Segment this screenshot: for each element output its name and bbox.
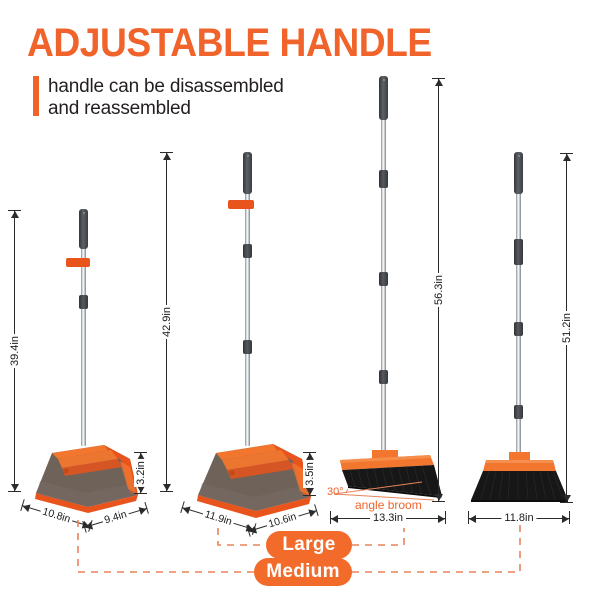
handle-joint	[514, 322, 523, 336]
handle-joint	[514, 239, 523, 265]
badge-medium-label: Medium	[266, 561, 340, 583]
infographic-canvas: ADJUSTABLE HANDLE handle can be disassem…	[0, 0, 600, 600]
subtitle-text: handle can be disassembled and reassembl…	[48, 76, 284, 120]
handle-joint	[243, 244, 252, 258]
handle-grip	[379, 76, 388, 120]
handle-grip	[514, 152, 523, 194]
handle-pole	[245, 176, 250, 446]
subtitle-block: handle can be disassembled and reassembl…	[33, 76, 284, 120]
handle-joint	[79, 295, 88, 309]
dimension-height-1: 39.4in	[8, 210, 22, 492]
accent-bar-icon	[33, 76, 39, 116]
dimension-height-2: 42.9in	[160, 152, 174, 492]
angle-value-label: 30°	[327, 486, 344, 498]
dimension-height-4: 51.2in	[560, 153, 574, 503]
handle-grip	[79, 209, 88, 249]
badge-large[interactable]: Large	[266, 531, 352, 559]
handle-joint	[379, 170, 388, 188]
dimension-height-3: 56.3in	[432, 78, 446, 502]
handle-grip	[243, 152, 252, 194]
dimension-depth-2: 3.5in	[303, 452, 317, 496]
badge-large-label: Large	[282, 534, 335, 556]
angle-broom-label: angle broom	[355, 498, 422, 512]
dimension-depth-1: 3.2in	[134, 452, 148, 494]
handle-joint	[514, 405, 523, 419]
handle-joint	[379, 370, 388, 384]
handle-clip	[228, 200, 254, 209]
handle-joint	[379, 272, 388, 286]
handle-clip	[66, 258, 90, 267]
badge-medium[interactable]: Medium	[254, 558, 352, 586]
handle-joint	[243, 340, 252, 354]
page-title: ADJUSTABLE HANDLE	[27, 23, 432, 63]
